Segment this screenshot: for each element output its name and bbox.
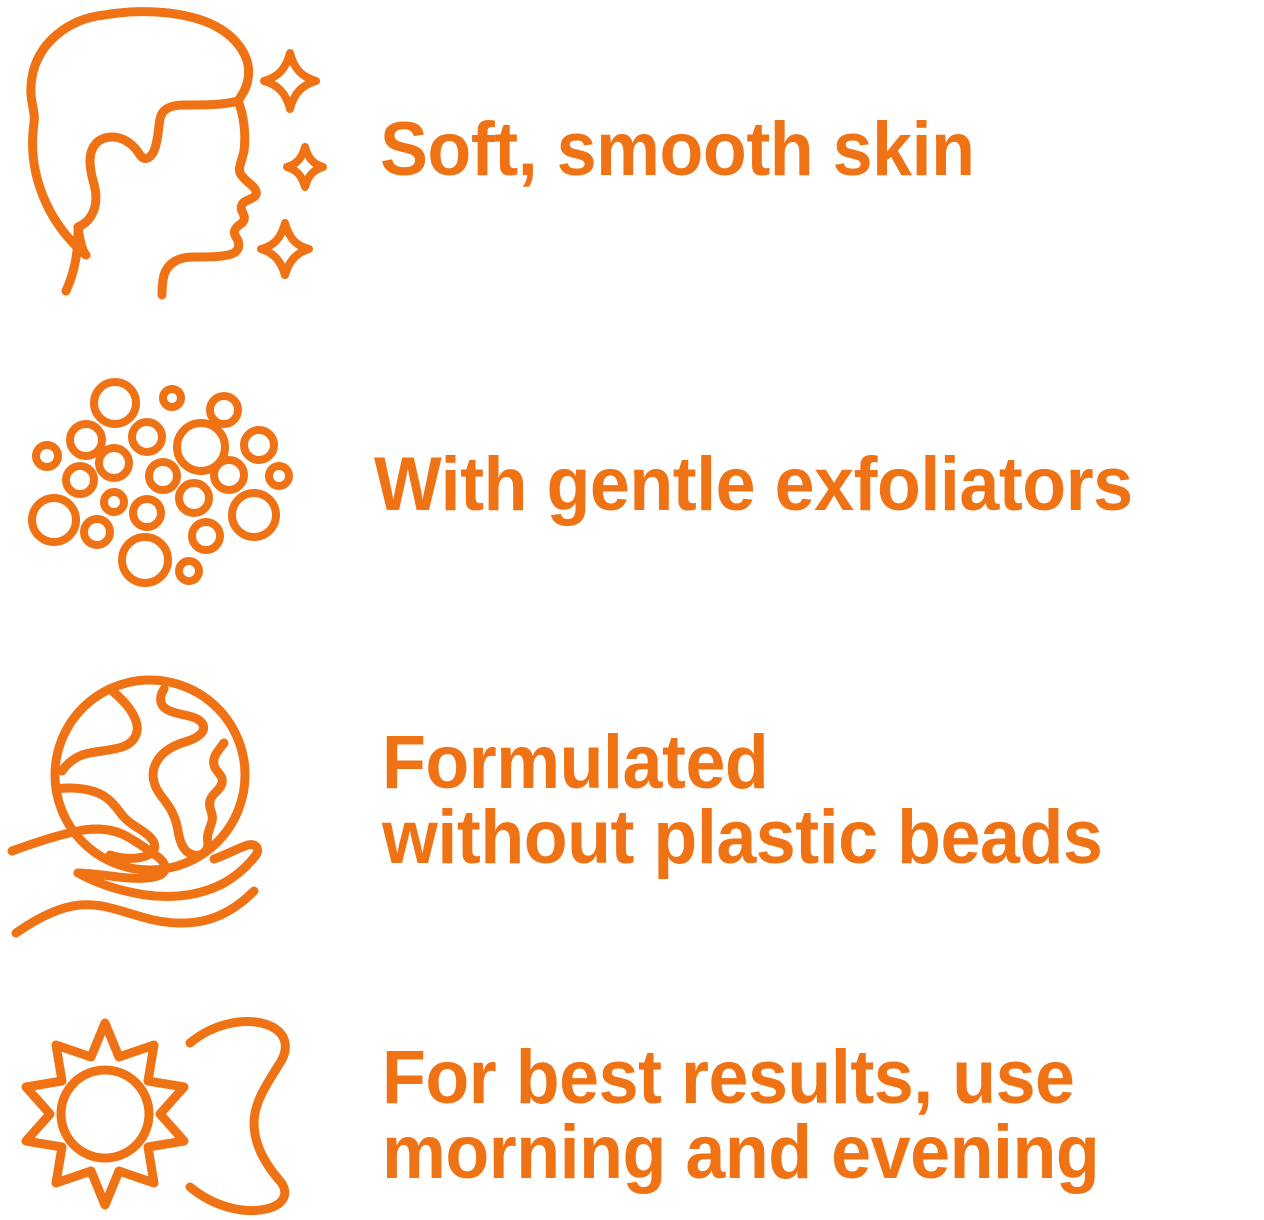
feature-row-formulated-without-plastic-beads: Formulated without plastic beads: [0, 650, 1264, 950]
icon-cell-2: [0, 380, 360, 590]
feature-text-line: without plastic beads: [382, 800, 1215, 875]
feature-row-soft-smooth-skin: Soft, smooth skin: [0, 0, 1264, 300]
text-cell-3: Formulated without plastic beads: [360, 725, 1264, 875]
text-cell-4: For best results, use morning and evenin…: [360, 1040, 1264, 1190]
text-cell-2: With gentle exfoliators: [360, 447, 1264, 522]
face-profile-sparkles-icon: [8, 5, 348, 295]
feature-text-line: Formulated: [382, 725, 1215, 800]
feature-text-line: morning and evening: [382, 1115, 1215, 1190]
feature-text-line: Soft, smooth skin: [380, 112, 1215, 187]
sun-and-moon-icon: [18, 1015, 308, 1215]
hand-holding-globe-icon: [10, 655, 290, 945]
icon-cell-3: [0, 655, 360, 945]
text-cell-1: Soft, smooth skin: [360, 112, 1264, 187]
feature-list-panel: Soft, smooth skin: [0, 0, 1264, 1220]
feature-row-with-gentle-exfoliators: With gentle exfoliators: [0, 370, 1264, 600]
exfoliator-beads-icon: [28, 380, 308, 590]
feature-row-morning-and-evening: For best results, use morning and evenin…: [0, 1010, 1264, 1220]
feature-text-line: With gentle exfoliators: [374, 447, 1215, 522]
icon-cell-4: [0, 1015, 360, 1215]
feature-text-line: For best results, use: [382, 1040, 1215, 1115]
icon-cell-1: [0, 5, 360, 295]
